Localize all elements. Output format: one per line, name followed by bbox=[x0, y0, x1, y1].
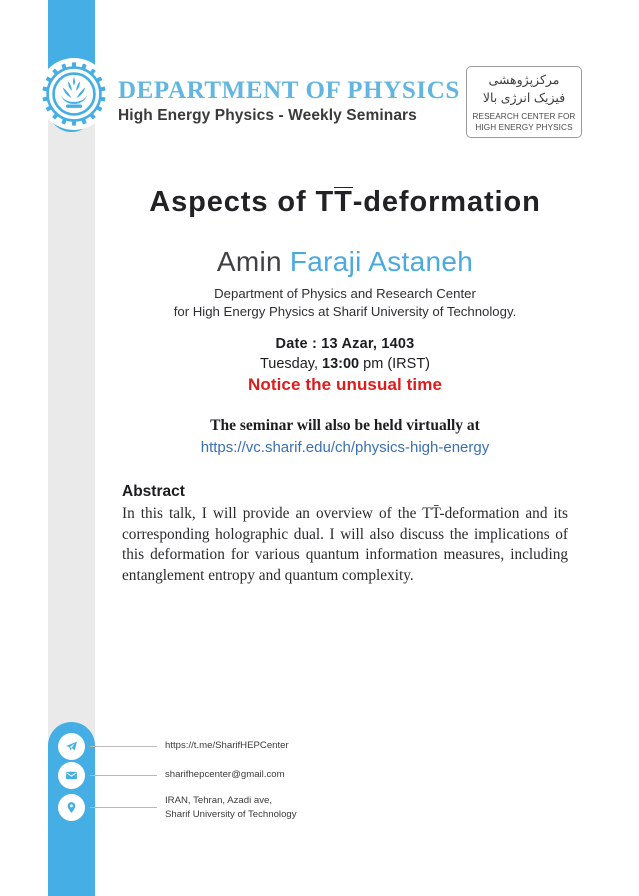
schedule-block: Date : 13 Azar, 1403 Tuesday, 13:00 pm (… bbox=[95, 336, 595, 395]
research-center-english-line-1: RESEARCH CENTER FOR bbox=[473, 111, 576, 122]
seminar-date: Date : 13 Azar, 1403 bbox=[95, 336, 595, 352]
contact-item-email[interactable]: sharifhepcenter@gmail.com bbox=[48, 762, 348, 792]
speaker-affiliation: Department of Physics and Research Cente… bbox=[95, 285, 595, 321]
research-center-persian-line-2: فیزیک انرژی بالا bbox=[483, 89, 565, 107]
contact-leader-line bbox=[90, 807, 157, 808]
research-center-english: RESEARCH CENTER FOR HIGH ENERGY PHYSICS bbox=[473, 111, 576, 133]
talk-title-prefix: Aspects of T bbox=[149, 186, 334, 218]
contact-leader-line bbox=[90, 775, 157, 776]
contact-leader-line bbox=[90, 746, 157, 747]
talk-title-tbar: T bbox=[334, 187, 353, 217]
department-subtitle: High Energy Physics - Weekly Seminars bbox=[118, 107, 417, 125]
department-title: DEPARTMENT OF PHYSICS bbox=[118, 77, 460, 105]
virtual-heading: The seminar will also be held virtually … bbox=[95, 417, 595, 435]
talk-title-suffix: -deformation bbox=[353, 186, 541, 218]
virtual-meeting-link[interactable]: https://vc.sharif.edu/ch/physics-high-en… bbox=[95, 439, 595, 456]
speaker-first-name: Amin bbox=[217, 246, 282, 277]
telegram-icon bbox=[58, 733, 85, 760]
location-pin-icon bbox=[58, 794, 85, 821]
research-center-persian-line-1: مرکزپژوهشی bbox=[483, 71, 565, 89]
seminar-time-value: 13:00 bbox=[322, 356, 359, 372]
research-center-english-line-2: HIGH ENERGY PHYSICS bbox=[473, 122, 576, 133]
unusual-time-notice: Notice the unusual time bbox=[95, 375, 595, 395]
speaker-affiliation-line-2: for High Energy Physics at Sharif Univer… bbox=[95, 303, 595, 321]
contact-telegram-text: https://t.me/SharifHEPCenter bbox=[165, 739, 289, 753]
sharif-university-gear-emblem-icon bbox=[38, 58, 110, 130]
contact-item-telegram[interactable]: https://t.me/SharifHEPCenter bbox=[48, 733, 348, 763]
seminar-day: Tuesday, bbox=[260, 356, 318, 372]
seminar-time-suffix: pm (IRST) bbox=[363, 356, 430, 372]
page-title: Aspects of TT-deformation bbox=[95, 186, 595, 219]
contact-item-address: IRAN, Tehran, Azadi ave, Sharif Universi… bbox=[48, 794, 348, 824]
contact-address-text: IRAN, Tehran, Azadi ave, Sharif Universi… bbox=[165, 794, 297, 822]
abstract-heading: Abstract bbox=[122, 483, 185, 501]
speaker-affiliation-line-1: Department of Physics and Research Cente… bbox=[95, 285, 595, 303]
speaker-name: AminFaraji Astaneh bbox=[95, 246, 595, 278]
abstract-body: In this talk, I will provide an overview… bbox=[122, 504, 568, 587]
speaker-last-name: Faraji Astaneh bbox=[290, 246, 473, 277]
contact-email-text: sharifhepcenter@gmail.com bbox=[165, 768, 285, 782]
research-center-persian: مرکزپژوهشی فیزیک انرژی بالا bbox=[483, 71, 565, 107]
envelope-icon bbox=[58, 762, 85, 789]
seminar-time: Tuesday, 13:00 pm (IRST) bbox=[95, 356, 595, 372]
research-center-box: مرکزپژوهشی فیزیک انرژی بالا RESEARCH CEN… bbox=[466, 66, 582, 138]
